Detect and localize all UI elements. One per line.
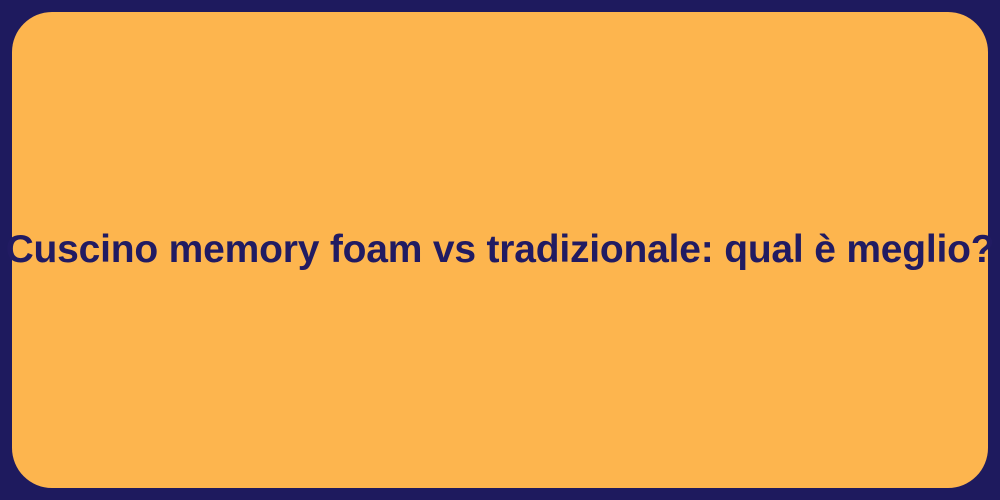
banner-card: Cuscino memory foam vs tradizionale: qua…	[12, 12, 988, 488]
banner-frame: Cuscino memory foam vs tradizionale: qua…	[0, 0, 1000, 500]
page-title: Cuscino memory foam vs tradizionale: qua…	[6, 226, 995, 275]
